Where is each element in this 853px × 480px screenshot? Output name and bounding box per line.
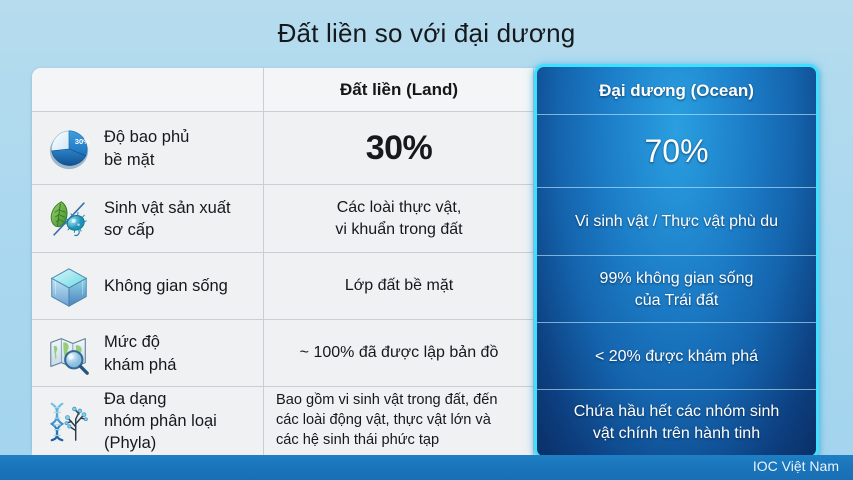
ocean-column[interactable]: Đại dương (Ocean) 70% Vi sinh vật / Thực… xyxy=(534,64,819,459)
row-label-text: Đa dạng nhóm phân loại (Phyla) xyxy=(104,388,217,455)
map-magnifier-icon xyxy=(46,331,92,377)
dna-tree-icon xyxy=(46,398,92,444)
ocean-value-row-5: Chứa hầu hết các nhóm sinh vật chính trê… xyxy=(537,390,816,456)
row-land-cell: 30% xyxy=(264,112,534,185)
row-label-text: Mức độ khám phá xyxy=(104,331,176,376)
ocean-value-row-2: Vi sinh vật / Thực vật phù du xyxy=(537,188,816,256)
leaf-microbe-icon xyxy=(46,196,92,242)
row-label-cell: 30% Độ bao phủ bề mặt xyxy=(32,112,264,185)
row-land-cell: Bao gồm vi sinh vật trong đất, đến các l… xyxy=(264,387,534,455)
land-value: 30% xyxy=(264,112,534,185)
ocean-value-row-4: < 20% được khám phá xyxy=(537,323,816,390)
footer-bar: IOC Việt Nam xyxy=(0,455,853,480)
pie-chart-icon: 30% xyxy=(46,126,92,172)
row-label-text: Không gian sống xyxy=(104,275,228,297)
ocean-value-row-3: 99% không gian sống của Trái đất xyxy=(537,256,816,323)
row-land-cell: ~ 100% đã được lập bản đồ xyxy=(264,320,534,387)
page-title: Đất liền so với đại dương xyxy=(0,18,853,49)
comparison-table: Đất liền (Land) xyxy=(32,68,785,455)
ocean-header: Đại dương (Ocean) xyxy=(537,67,816,115)
row-label-cell: Sinh vật sản xuất sơ cấp xyxy=(32,185,264,253)
row-label-cell: Mức độ khám phá xyxy=(32,320,264,387)
footer-credit: IOC Việt Nam xyxy=(753,458,839,474)
row-label-cell: Đa dạng nhóm phân loại (Phyla) xyxy=(32,387,264,455)
row-land-cell: Các loài thực vật, vi khuẩn trong đất xyxy=(264,185,534,253)
row-label-text: Độ bao phủ bề mặt xyxy=(104,126,189,171)
land-value: ~ 100% đã được lập bản đồ xyxy=(264,320,534,387)
row-label-cell: Không gian sống xyxy=(32,253,264,320)
land-value: Các loài thực vật, vi khuẩn trong đất xyxy=(264,185,534,253)
pie-chart-value: 30% xyxy=(75,137,91,146)
header-cell-blank xyxy=(32,68,264,112)
header-label-land: Đất liền (Land) xyxy=(264,68,534,112)
row-land-cell: Lớp đất bề mặt xyxy=(264,253,534,320)
cube-icon xyxy=(46,264,92,310)
ocean-value-row-1: 70% xyxy=(537,115,816,188)
land-value: Lớp đất bề mặt xyxy=(264,253,534,320)
row-label-text: Sinh vật sản xuất sơ cấp xyxy=(104,197,231,242)
land-value: Bao gồm vi sinh vật trong đất, đến các l… xyxy=(264,387,534,455)
header-cell-land: Đất liền (Land) xyxy=(264,68,534,112)
